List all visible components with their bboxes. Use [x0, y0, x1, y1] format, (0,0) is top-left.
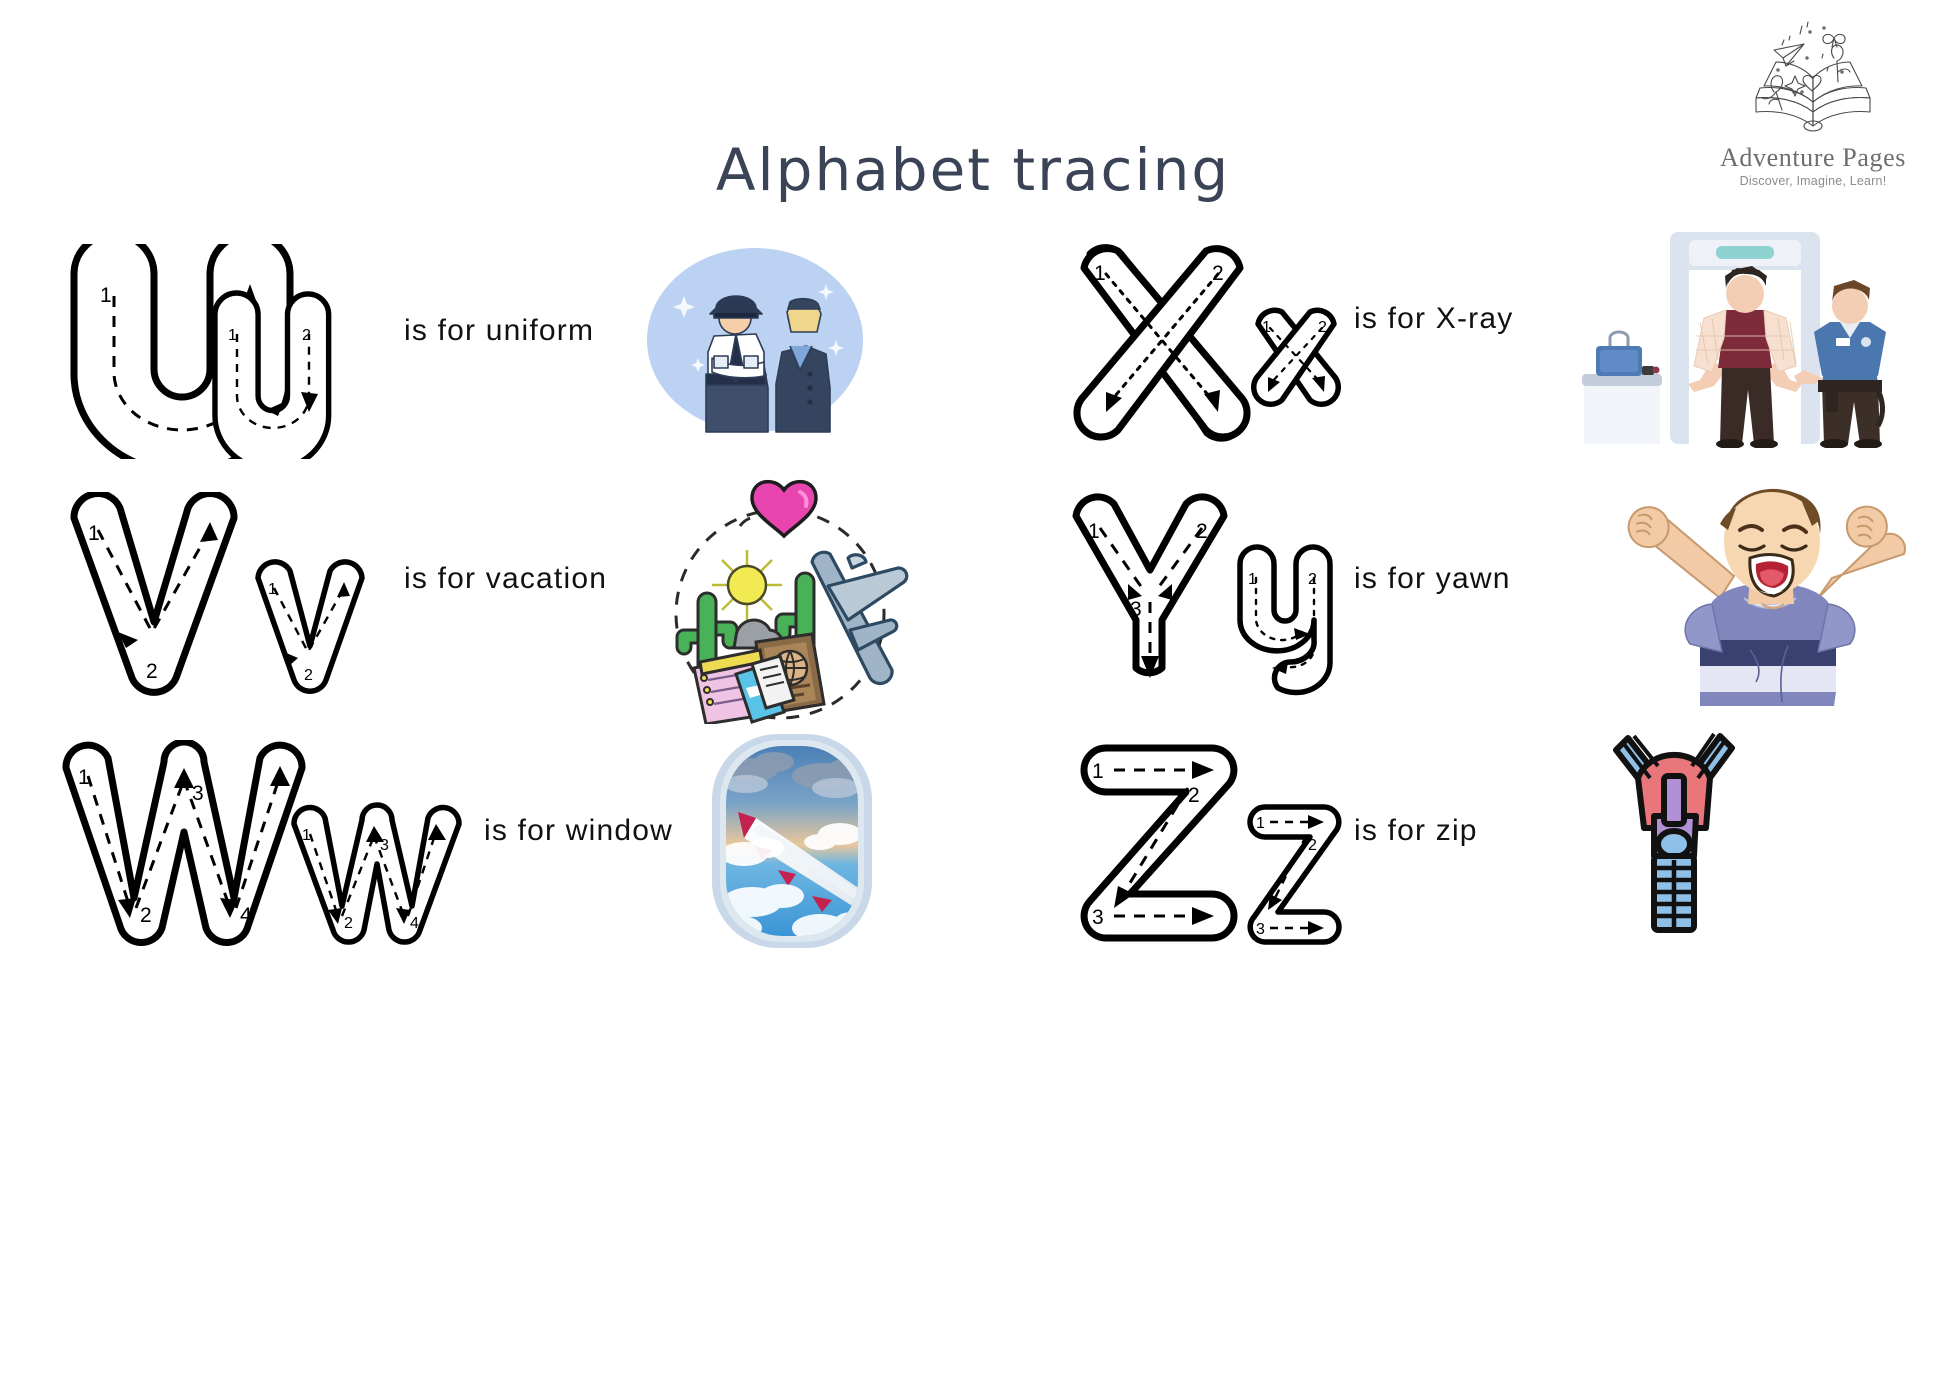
stroke-number: 3 [1092, 906, 1104, 929]
stroke-number: 1 [78, 766, 90, 789]
letter-pair-ww[interactable]: 1 2 3 4 1 2 3 4 [52, 740, 472, 955]
stroke-number: 1 [100, 284, 112, 307]
stroke-number: 2 [304, 667, 313, 684]
letter-pair-zz[interactable]: 1 2 3 1 2 3 [1062, 740, 1352, 955]
page-title-handwriting: Alphabet tracing [693, 128, 1253, 214]
stroke-number: 2 [1308, 571, 1317, 588]
stroke-number: 1 [1094, 262, 1106, 285]
illustration-zip [1604, 720, 1744, 940]
illustration-vacation [652, 474, 912, 724]
letter-pair-uu[interactable]: 1 1 2 [52, 244, 372, 459]
letter-pair-vv[interactable]: 1 2 1 2 [52, 492, 372, 707]
stroke-number: 1 [1092, 760, 1104, 783]
illustration-yawn [1592, 480, 1942, 710]
stroke-number: 2 [140, 904, 152, 927]
stroke-number: 4 [410, 915, 419, 932]
illustration-xray [1550, 218, 1946, 448]
phrase-yawn: is for yawn [1354, 562, 1511, 596]
stroke-number: 3 [1130, 598, 1142, 621]
stroke-number: 2 [1188, 784, 1200, 807]
tracing-cell-u: 1 1 2 is for uniform [52, 236, 982, 484]
stroke-number: 2 [344, 915, 353, 932]
letter-pair-yy[interactable]: 1 2 3 1 2 [1062, 492, 1352, 707]
stroke-number: 1 [88, 522, 100, 545]
stroke-number: 3 [192, 782, 204, 805]
stroke-number: 1 [268, 581, 277, 598]
stroke-number: 2 [1212, 262, 1224, 285]
phrase-window: is for window [484, 814, 673, 848]
stroke-number: 3 [380, 837, 389, 854]
tracing-cell-y: 1 2 3 1 2 is for yawn [1062, 484, 1946, 732]
stroke-number: 3 [1256, 921, 1265, 938]
tracing-row: 1 2 1 2 is for vacation [0, 484, 1946, 732]
open-book-icon [1738, 14, 1888, 142]
tracing-cell-z: 1 2 3 1 2 3 is for zip [1062, 732, 1946, 980]
tracing-grid: 1 1 2 is for uniform [0, 236, 1946, 980]
stroke-number: 1 [1248, 571, 1257, 588]
stroke-number: 1 [228, 327, 237, 344]
stroke-number: 2 [302, 327, 311, 344]
worksheet-page: Adventure Pages Discover, Imagine, Learn… [0, 0, 1946, 1376]
stroke-number: 1 [1262, 319, 1271, 336]
stroke-number: 1 [1088, 520, 1100, 543]
stroke-number: 2 [1196, 520, 1208, 543]
stroke-number: 1 [1256, 815, 1265, 832]
letter-pair-xx[interactable]: 1 2 1 2 [1062, 244, 1342, 444]
phrase-xray: is for X-ray [1354, 302, 1513, 336]
page-title-text: Alphabet tracing [716, 136, 1230, 204]
phrase-uniform: is for uniform [404, 314, 594, 348]
illustration-window [700, 726, 890, 966]
tracing-row: 1 2 3 4 1 2 3 4 [0, 732, 1946, 980]
stroke-number: 2 [1308, 837, 1317, 854]
tracing-cell-w: 1 2 3 4 1 2 3 4 [52, 732, 982, 980]
phrase-vacation: is for vacation [404, 562, 607, 596]
stroke-number: 1 [302, 827, 311, 844]
tracing-row: 1 1 2 is for uniform [0, 236, 1946, 484]
stroke-number: 4 [240, 904, 252, 927]
stroke-number: 2 [146, 660, 158, 683]
stroke-number: 2 [1318, 319, 1327, 336]
page-title: Alphabet tracing [0, 128, 1946, 214]
tracing-cell-v: 1 2 1 2 is for vacation [52, 484, 982, 732]
illustration-uniform [640, 236, 870, 436]
phrase-zip: is for zip [1354, 814, 1478, 848]
tracing-cell-x: 1 2 1 2 is for X-ray [1062, 236, 1946, 484]
